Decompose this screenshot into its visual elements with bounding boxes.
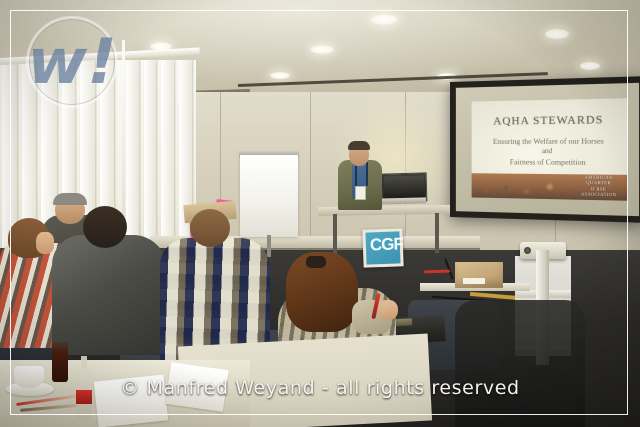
flipchart-pole	[267, 235, 271, 257]
cgf-sign-text: CGF	[365, 231, 400, 264]
notepad	[165, 362, 228, 412]
water-bottle-label	[76, 390, 92, 404]
presenter-name-badge	[355, 186, 366, 200]
cardboard-box-label	[463, 278, 485, 284]
presenter-table-leg	[333, 214, 337, 256]
projector-lens	[524, 247, 531, 254]
flipchart-paper	[240, 155, 298, 237]
drink-glass	[52, 342, 68, 382]
attendee-long-hair-clip	[306, 256, 326, 268]
slide-subtitle-line-3: Fairness of Competition	[472, 157, 628, 167]
attendee-striped-sweater-face	[36, 232, 54, 254]
aqha-logo-line-4: ASSOCIATION	[574, 191, 623, 198]
cardboard-box	[455, 262, 503, 288]
projection-screen: AQHA STEWARDS Ensuring the Welfare of ou…	[450, 76, 640, 223]
attendee-dark-fleece-body	[52, 235, 167, 355]
slide-title: AQHA STEWARDS	[472, 113, 628, 127]
recessed-ceiling-downlight	[370, 14, 398, 25]
attendee-long-hair-hand	[378, 300, 398, 320]
photograph: AQHA STEWARDS Ensuring the Welfare of ou…	[0, 0, 640, 427]
presentation-slide: AQHA STEWARDS Ensuring the Welfare of ou…	[472, 98, 628, 200]
attendee-dark-fleece-head	[83, 206, 127, 248]
coffee-cup	[14, 366, 44, 388]
presenter-hair	[348, 141, 370, 150]
recessed-ceiling-downlight	[310, 45, 334, 54]
cgf-sign: CGF	[362, 228, 403, 267]
laptop-keyboard-base[interactable]	[378, 197, 426, 204]
presenter-table-leg	[435, 213, 439, 253]
attendee-grey-hair-hair	[53, 193, 87, 205]
laptop-screen	[384, 175, 425, 199]
flipchart-easel	[240, 145, 298, 250]
projection-screen-surface: AQHA STEWARDS Ensuring the Welfare of ou…	[456, 83, 639, 216]
slide-subtitle-line-2: and	[472, 147, 628, 156]
notepad	[94, 374, 168, 427]
recessed-ceiling-downlight	[270, 72, 290, 79]
recessed-ceiling-downlight	[545, 29, 569, 39]
attendee-plaid-shirt-head	[190, 209, 230, 247]
aqha-logo: AMERICAN QUARTER H RSE ASSOCIATION	[574, 174, 623, 198]
attendee-far-right-body	[455, 300, 585, 427]
slide-subtitle-line-1: Ensuring the Welfare of our Horses	[472, 136, 628, 146]
recessed-ceiling-downlight	[580, 62, 600, 70]
